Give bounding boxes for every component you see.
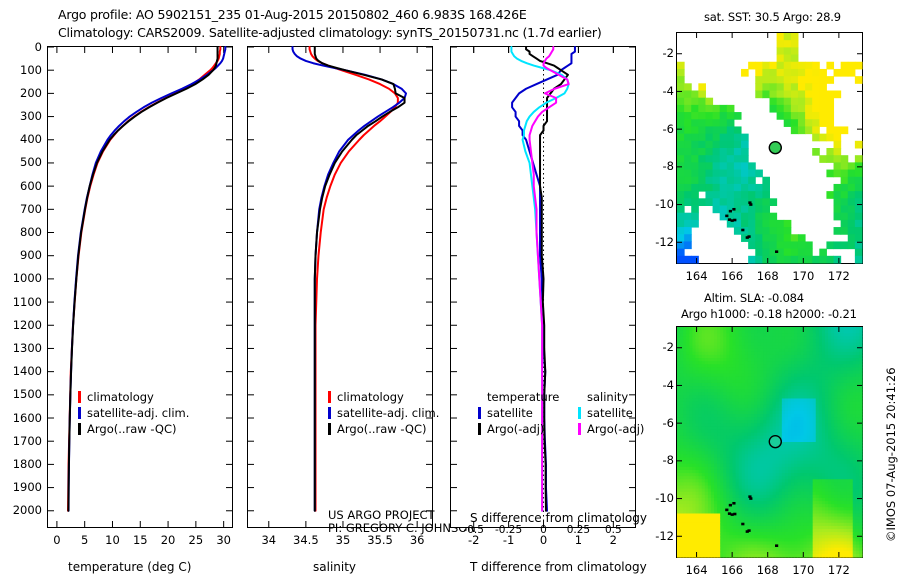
depth-tick-1300: 1300 <box>0 341 42 355</box>
legend-swatch-satellite-clim <box>328 407 331 419</box>
depth-tick-700: 700 <box>0 202 42 216</box>
sla-map-title-line-2: Argo h1000: -0.18 h2000: -0.21 <box>681 307 857 321</box>
depth-tick-1700: 1700 <box>0 434 42 448</box>
map-ytick-0--12: -12 <box>644 235 674 249</box>
depth-tick-1400: 1400 <box>0 364 42 378</box>
legend-swatch-temperature-argo <box>478 423 481 435</box>
legend-swatch-climatology <box>78 391 81 403</box>
map-ytick-1--6: -6 <box>644 416 674 430</box>
depth-tick-1900: 1900 <box>0 480 42 494</box>
legend-label-salinity-satellite: satellite <box>587 406 633 420</box>
map-ytick-1--4: -4 <box>644 378 674 392</box>
difference-profile-panel <box>450 46 636 528</box>
temperature-profile-panel <box>47 46 233 528</box>
legend-label-argo: Argo(..raw -QC) <box>337 422 427 436</box>
header-line-1: Argo profile: AO 5902151_235 01-Aug-2015… <box>58 7 527 22</box>
legend-swatch-salinity-satellite <box>578 407 581 419</box>
legend-label-argo: Argo(..raw -QC) <box>87 422 177 436</box>
depth-tick-600: 600 <box>0 179 42 193</box>
xtick-1-36: 36 <box>387 533 447 547</box>
temperature-xaxis-label: temperature (deg C) <box>68 560 191 574</box>
legend-swatch-argo <box>78 423 81 435</box>
depth-tick-300: 300 <box>0 109 42 123</box>
map-ytick-1--2: -2 <box>644 340 674 354</box>
legend-label-temperature-argo: Argo(-adj) <box>487 422 544 436</box>
sla-map-title-line-1: Altim. SLA: -0.084 <box>704 291 804 305</box>
legend-label-climatology: climatology <box>337 390 404 404</box>
depth-tick-400: 400 <box>0 132 42 146</box>
map-ytick-0--2: -2 <box>644 46 674 60</box>
map-ytick-0--4: -4 <box>644 84 674 98</box>
depth-tick-1500: 1500 <box>0 387 42 401</box>
depth-tick-1000: 1000 <box>0 271 42 285</box>
salinity-profile-panel <box>247 46 433 528</box>
legend-label-satellite-clim: satellite-adj. clim. <box>337 406 439 420</box>
legend-header-temperature: temperature <box>487 390 559 404</box>
depth-tick-0: 0 <box>0 40 42 54</box>
map-xtick-1-172: 172 <box>809 563 869 577</box>
legend-swatch-climatology <box>328 391 331 403</box>
depth-tick-900: 900 <box>0 248 42 262</box>
legend-swatch-temperature-satellite <box>478 407 481 419</box>
depth-tick-1800: 1800 <box>0 457 42 471</box>
header-line-2: Climatology: CARS2009. Satellite-adjuste… <box>58 25 602 40</box>
salinity-xaxis-label: salinity <box>313 560 356 574</box>
map-ytick-1--8: -8 <box>644 453 674 467</box>
sst-map-title: sat. SST: 30.5 Argo: 28.9 <box>704 10 841 24</box>
map-ytick-0--6: -6 <box>644 122 674 136</box>
legend-label-salinity-argo: Argo(-adj) <box>587 422 644 436</box>
legend-label-satellite-clim: satellite-adj. clim. <box>87 406 189 420</box>
difference-xaxis-label-top: S difference from climatology <box>470 511 647 525</box>
project-line-1: US ARGO PROJECT <box>328 508 435 522</box>
map-xtick-0-172: 172 <box>809 269 869 283</box>
legend-swatch-argo <box>328 423 331 435</box>
depth-tick-1200: 1200 <box>0 318 42 332</box>
depth-tick-200: 200 <box>0 86 42 100</box>
legend-label-temperature-satellite: satellite <box>487 406 533 420</box>
map-ytick-0--8: -8 <box>644 159 674 173</box>
sla-map-panel <box>676 326 863 558</box>
legend-swatch-satellite-clim <box>78 407 81 419</box>
sst-map-panel <box>676 32 863 264</box>
map-ytick-1--12: -12 <box>644 529 674 543</box>
map-ytick-0--10: -10 <box>644 197 674 211</box>
depth-tick-100: 100 <box>0 63 42 77</box>
map-ytick-1--10: -10 <box>644 491 674 505</box>
difference-xaxis-label: T difference from climatology <box>470 560 647 574</box>
legend-swatch-salinity-argo <box>578 423 581 435</box>
imos-credit: ©IMOS 07-Aug-2015 20:41:26 <box>884 367 898 542</box>
depth-tick-800: 800 <box>0 225 42 239</box>
depth-tick-500: 500 <box>0 155 42 169</box>
legend-header-salinity: salinity <box>587 390 628 404</box>
depth-tick-2000: 2000 <box>0 503 42 517</box>
depth-tick-1600: 1600 <box>0 411 42 425</box>
legend-label-climatology: climatology <box>87 390 154 404</box>
depth-tick-1100: 1100 <box>0 295 42 309</box>
xtick-2-0.5: 0.5 <box>583 524 643 536</box>
